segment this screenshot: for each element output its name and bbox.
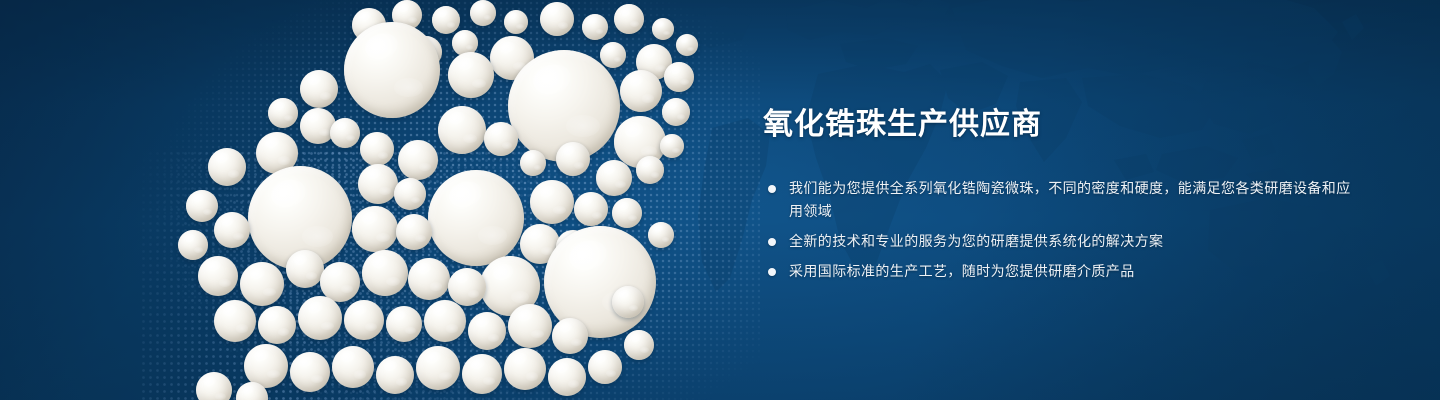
list-item: 全新的技术和专业的服务为您的研磨提供系统化的解决方案: [763, 230, 1363, 253]
bullet-dot-icon: [768, 185, 776, 193]
list-item-label: 我们能为您提供全系列氧化锆陶瓷微珠，不同的密度和硬度，能满足您各类研磨设备和应用…: [789, 177, 1363, 223]
hero-banner: 氧化锆珠生产供应商 我们能为您提供全系列氧化锆陶瓷微珠，不同的密度和硬度，能满足…: [0, 0, 1440, 400]
bullet-dot-icon: [768, 238, 776, 246]
list-item-label: 采用国际标准的生产工艺，随时为您提供研磨介质产品: [789, 260, 1363, 283]
list-item: 采用国际标准的生产工艺，随时为您提供研磨介质产品: [763, 260, 1363, 283]
feature-list: 我们能为您提供全系列氧化锆陶瓷微珠，不同的密度和硬度，能满足您各类研磨设备和应用…: [763, 177, 1363, 283]
page-title: 氧化锆珠生产供应商: [763, 108, 1363, 141]
banner-content: 氧化锆珠生产供应商 我们能为您提供全系列氧化锆陶瓷微珠，不同的密度和硬度，能满足…: [763, 108, 1363, 283]
list-item: 我们能为您提供全系列氧化锆陶瓷微珠，不同的密度和硬度，能满足您各类研磨设备和应用…: [763, 177, 1363, 223]
bullet-dot-icon: [768, 268, 776, 276]
list-item-label: 全新的技术和专业的服务为您的研磨提供系统化的解决方案: [789, 230, 1363, 253]
